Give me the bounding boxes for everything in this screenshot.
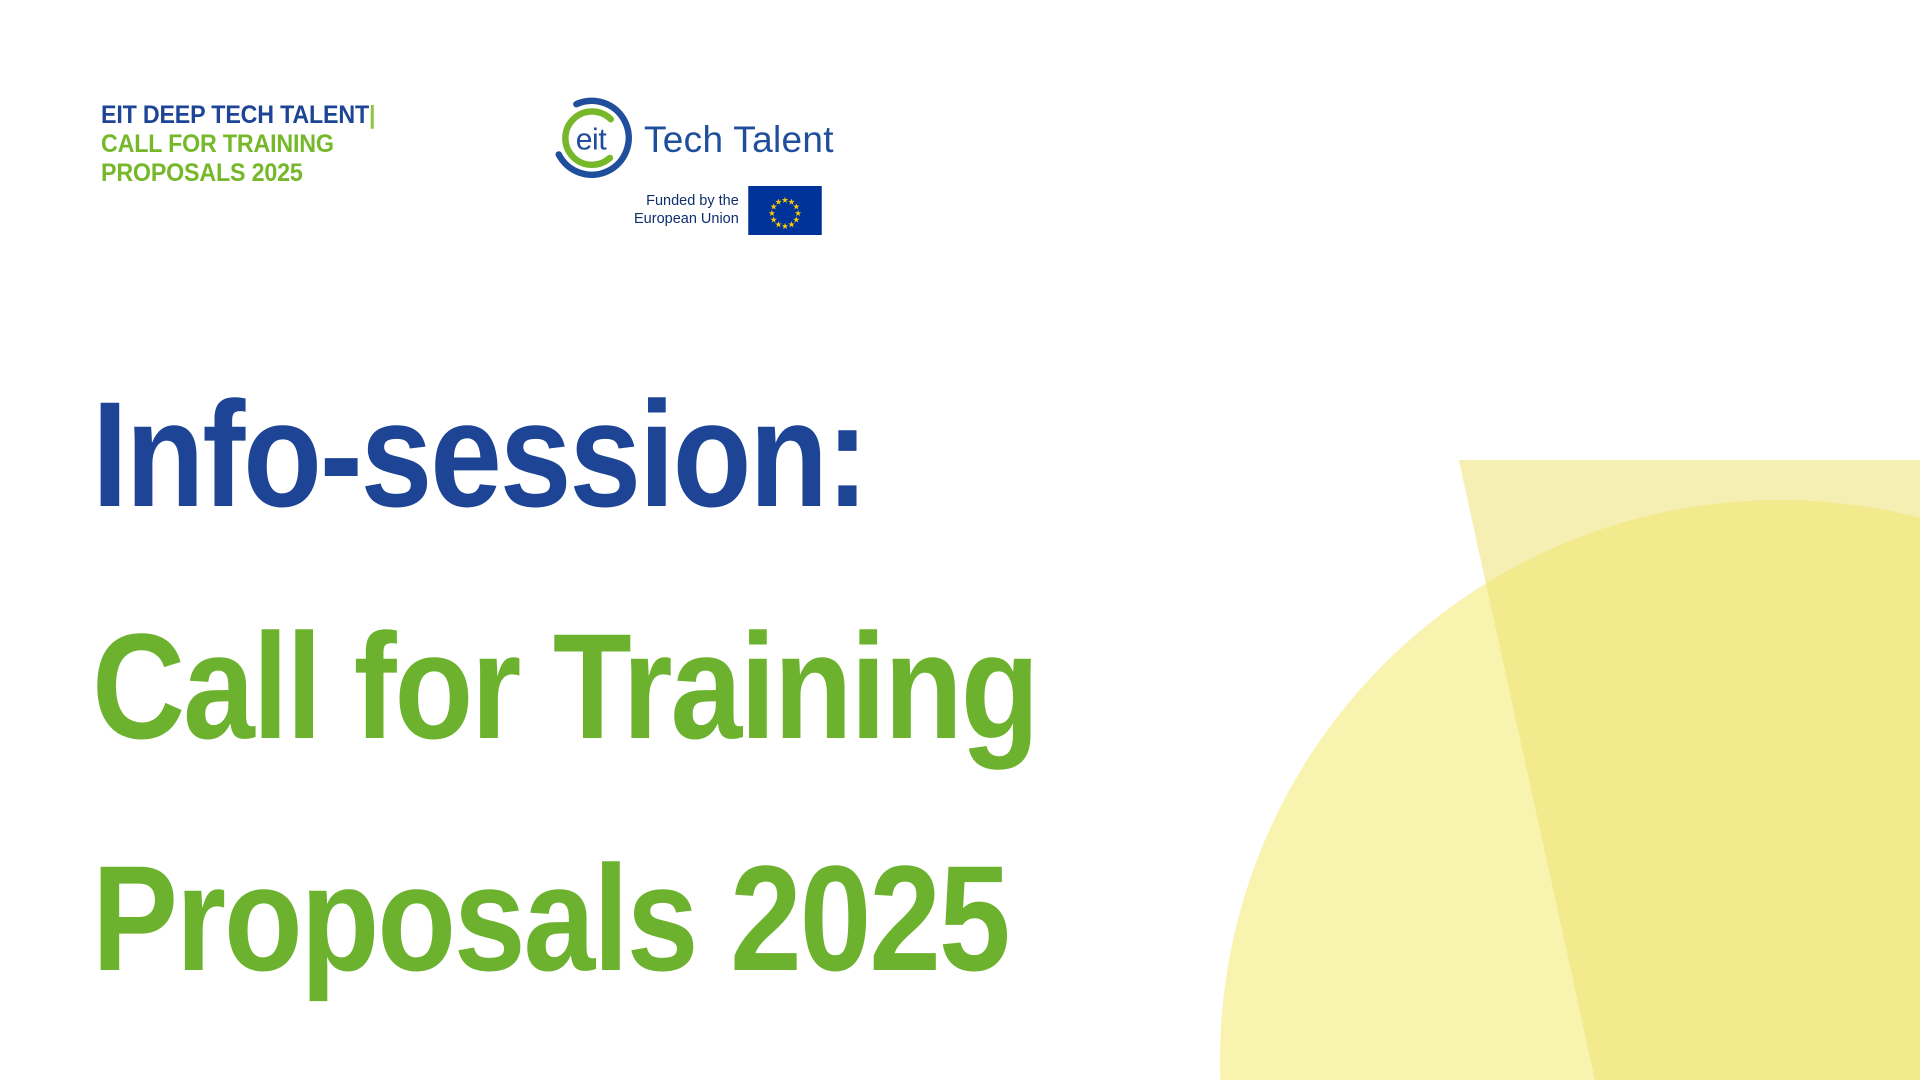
title-line-1: Info-session: xyxy=(92,338,1037,570)
eit-circle-icon: eit xyxy=(548,96,634,182)
funding-line-2: European Union xyxy=(634,211,739,228)
funding-text: Funded by the European Union xyxy=(634,193,739,227)
kicker-text: EIT DEEP TECH TALENT| CALL FOR TRAINING … xyxy=(101,101,375,187)
eu-funding-statement: Funded by the European Union xyxy=(634,186,868,235)
eu-flag-icon xyxy=(748,186,822,235)
tech-talent-wordmark: Tech Talent xyxy=(644,119,834,161)
title-line-2: Call for Training xyxy=(92,570,1037,802)
title-slide: EIT DEEP TECH TALENT| CALL FOR TRAINING … xyxy=(0,0,1920,1080)
title-line-3: Proposals 2025 xyxy=(92,802,1037,1034)
funding-line-1: Funded by the xyxy=(634,193,739,210)
logo-lockup: eit Tech Talent xyxy=(548,96,868,182)
eit-tech-talent-logo: eit Tech Talent Funded by the European U… xyxy=(548,96,868,235)
kicker-separator-icon: | xyxy=(369,101,375,129)
kicker-line-1-text: EIT DEEP TECH TALENT xyxy=(101,101,369,129)
kicker-line-1: EIT DEEP TECH TALENT| xyxy=(101,101,375,130)
yellow-wedge-overlay xyxy=(1450,460,1920,1080)
yellow-circle-large xyxy=(1220,500,1920,1080)
kicker-line-2: CALL FOR TRAINING xyxy=(101,130,375,159)
kicker-line-3: PROPOSALS 2025 xyxy=(101,159,375,188)
slide-kicker: EIT DEEP TECH TALENT| CALL FOR TRAINING … xyxy=(101,101,396,187)
eit-mark-text: eit xyxy=(576,123,608,156)
page-title: Info-session: Call for Training Proposal… xyxy=(92,338,1191,1034)
